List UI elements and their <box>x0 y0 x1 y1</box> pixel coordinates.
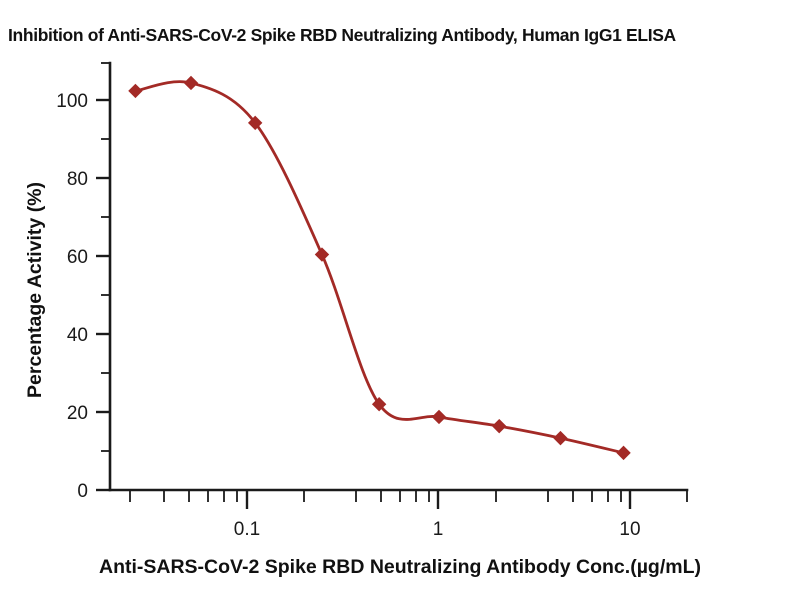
data-point <box>493 420 506 433</box>
x-axis-title: Anti-SARS-CoV-2 Spike RBD Neutralizing A… <box>99 556 701 578</box>
data-point <box>554 432 567 445</box>
data-point <box>185 76 198 89</box>
y-tick-label-40: 40 <box>67 325 88 346</box>
x-tick-label-0.1: 0.1 <box>234 519 260 540</box>
plot-area: 100 80 60 40 20 0 <box>0 0 800 600</box>
chart-figure: Inhibition of Anti-SARS-CoV-2 Spike RBD … <box>0 0 800 600</box>
data-markers <box>129 76 630 459</box>
data-point <box>617 446 630 459</box>
y-tick-label-80: 80 <box>67 169 88 190</box>
y-axis-title: Percentage Activity (%) <box>24 182 46 398</box>
y-tick-label-20: 20 <box>67 403 88 424</box>
data-point <box>129 84 142 97</box>
y-tick-label-0: 0 <box>77 481 88 502</box>
x-axis-minor-ticks <box>130 490 687 502</box>
data-point <box>315 248 328 261</box>
data-point <box>433 410 446 423</box>
x-tick-label-10: 10 <box>619 519 640 540</box>
data-curve-series-1 <box>135 82 623 453</box>
y-tick-label-100: 100 <box>56 91 88 112</box>
y-tick-label-60: 60 <box>67 247 88 268</box>
x-tick-label-1: 1 <box>433 519 444 540</box>
